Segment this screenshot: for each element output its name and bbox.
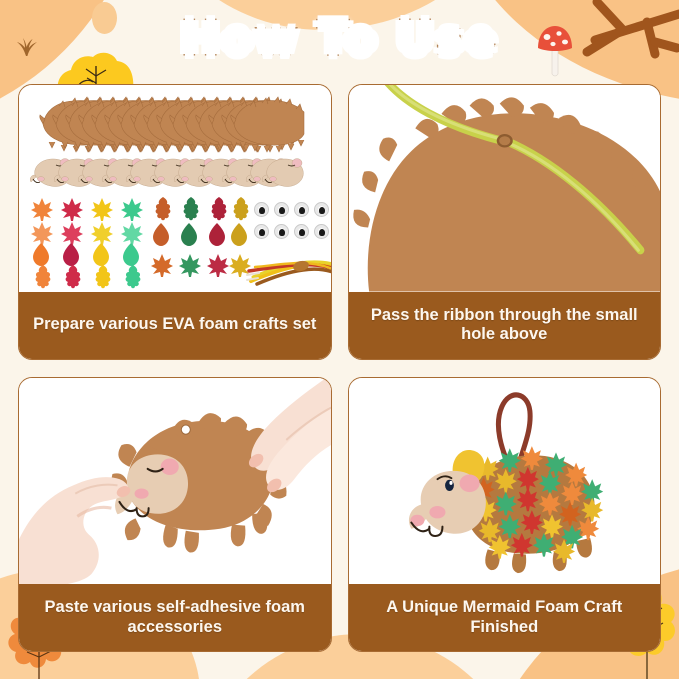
step-image-2 bbox=[349, 85, 661, 292]
step-card-2[interactable]: Pass the ribbon through the small hole a… bbox=[348, 84, 662, 360]
page-title: How To Use bbox=[181, 11, 498, 65]
step-image-4 bbox=[349, 378, 661, 585]
leaf-sticker-grid-image bbox=[29, 197, 244, 285]
steps-grid: Prepare various EVA foam crafts set bbox=[18, 84, 661, 652]
step-image-1 bbox=[19, 85, 331, 292]
hedgehog-ribbon-closeup-image bbox=[349, 85, 661, 292]
googly-eye-icon bbox=[254, 224, 269, 239]
step-caption-2: Pass the ribbon through the small hole a… bbox=[349, 292, 661, 359]
left-hand bbox=[19, 477, 132, 584]
page-title-wrapper: How To Use bbox=[0, 11, 679, 65]
hands-pasting-face-image bbox=[19, 378, 331, 585]
step-card-4[interactable]: A Unique Mermaid Foam Craft Finished bbox=[348, 377, 662, 653]
step-caption-3: Paste various self-adhesive foam accesso… bbox=[19, 584, 331, 651]
googly-eye-icon bbox=[314, 224, 329, 239]
ribbon-bundle-image bbox=[247, 251, 331, 285]
googly-eye-icon bbox=[314, 202, 329, 217]
googly-eye-row bbox=[254, 224, 331, 239]
step-image-3 bbox=[19, 378, 331, 585]
step-caption-1: Prepare various EVA foam crafts set bbox=[19, 292, 331, 359]
googly-eyes-image bbox=[254, 202, 331, 244]
hedgehog-face-stack-image bbox=[29, 155, 309, 189]
hedgehog-body-stack-image bbox=[39, 94, 309, 152]
googly-eye-icon bbox=[294, 224, 309, 239]
step-caption-4: A Unique Mermaid Foam Craft Finished bbox=[349, 584, 661, 651]
googly-eye-icon bbox=[274, 202, 289, 217]
googly-eye-icon bbox=[254, 202, 269, 217]
googly-eye-icon bbox=[274, 224, 289, 239]
googly-eye-row bbox=[254, 202, 331, 217]
step-card-1[interactable]: Prepare various EVA foam crafts set bbox=[18, 84, 332, 360]
googly-eye-icon bbox=[294, 202, 309, 217]
finished-hedgehog-ornament-image bbox=[349, 378, 661, 585]
step-card-3[interactable]: Paste various self-adhesive foam accesso… bbox=[18, 377, 332, 653]
